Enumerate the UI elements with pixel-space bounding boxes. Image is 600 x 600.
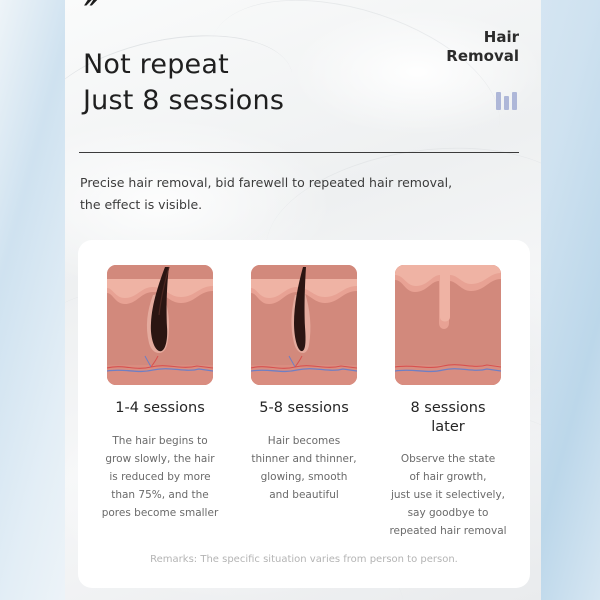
capillary-vessels [395, 355, 501, 377]
brand-label: Hair Removal [446, 28, 519, 66]
page-title: Not repeat Just 8 sessions [83, 47, 284, 118]
remarks-note: Remarks: The specific situation varies f… [78, 554, 530, 565]
epidermis-layer [395, 265, 501, 340]
hair-follicle [251, 265, 357, 385]
desc-line: say goodbye to [380, 504, 516, 522]
brand-line-2: Removal [446, 47, 519, 66]
desc-line: grow slowly, the hair [92, 450, 228, 468]
panel-list: 1-4 sessions The hair begins to grow slo… [78, 240, 530, 540]
panel-description: The hair begins to grow slowly, the hair… [92, 432, 228, 522]
desc-line: repeated hair removal [380, 522, 516, 540]
desc-line: Observe the state [380, 450, 516, 468]
brand-line-1: Hair [446, 28, 519, 47]
desc-line: glowing, smooth [236, 468, 372, 486]
desc-line: Hair becomes [236, 432, 372, 450]
page-root: ″ Hair Removal Not repeat Just 8 session… [0, 0, 600, 600]
panel-stage-3: 8 sessions later Observe the state of ha… [380, 240, 516, 540]
subtitle-line-2: the effect is visible. [80, 194, 500, 216]
panel-title: 5-8 sessions [236, 399, 372, 418]
headline-line-2: Just 8 sessions [83, 83, 284, 119]
marble-sheet: ″ Hair Removal Not repeat Just 8 session… [65, 0, 541, 600]
signal-bars-icon [496, 92, 517, 110]
desc-line: just use it selectively, [380, 486, 516, 504]
panel-stage-1: 1-4 sessions The hair begins to grow slo… [92, 240, 228, 540]
headline-line-1: Not repeat [83, 47, 284, 83]
panel-stage-2: 5-8 sessions Hair becomes thinner and th… [236, 240, 372, 540]
desc-line: The hair begins to [92, 432, 228, 450]
subtitle-line-1: Precise hair removal, bid farewell to re… [80, 172, 500, 194]
panel-description: Hair becomes thinner and thinner, glowin… [236, 432, 372, 504]
skin-without-hair-illustration [395, 265, 501, 385]
quote-icon: ″ [84, 0, 94, 28]
desc-line: than 75%, and the [92, 486, 228, 504]
header-divider [79, 152, 519, 153]
panel-description: Observe the state of hair growth, just u… [380, 450, 516, 540]
info-card: 1-4 sessions The hair begins to grow slo… [78, 240, 530, 588]
desc-line: of hair growth, [380, 468, 516, 486]
subtitle: Precise hair removal, bid farewell to re… [80, 172, 500, 216]
bar-2 [504, 96, 509, 110]
bar-1 [496, 92, 501, 110]
desc-line: pores become smaller [92, 504, 228, 522]
skin-with-thin-hair-follicle-illustration [251, 265, 357, 385]
panel-title-line-2: later [380, 418, 516, 437]
panel-title: 1-4 sessions [92, 399, 228, 418]
desc-line: and beautiful [236, 486, 372, 504]
desc-line: is reduced by more [92, 468, 228, 486]
desc-line: thinner and thinner, [236, 450, 372, 468]
skin-with-thick-hair-follicle-illustration [107, 265, 213, 385]
panel-title: 8 sessions later [380, 399, 516, 436]
bar-3 [512, 92, 517, 110]
sheet-content: ″ Hair Removal Not repeat Just 8 session… [65, 0, 541, 600]
panel-title-line-1: 8 sessions [380, 399, 516, 418]
hair-follicle [107, 265, 213, 385]
